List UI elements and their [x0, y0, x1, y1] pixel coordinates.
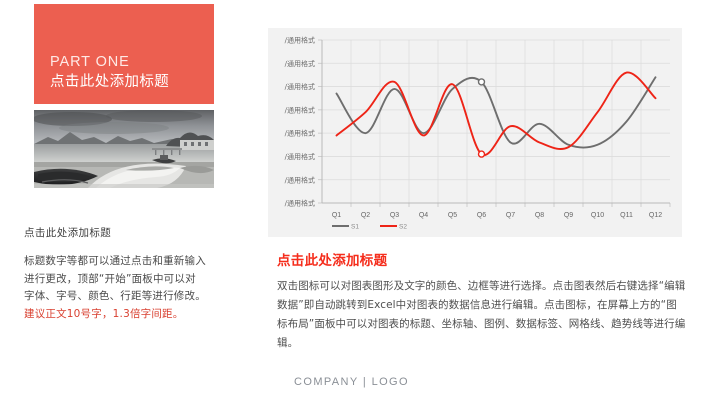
left-body-line: 标题数字等都可以通过点击和重新输入	[24, 253, 246, 271]
right-section-title: 点击此处添加标题	[277, 249, 387, 269]
x-axis-tick-label: Q7	[506, 212, 515, 219]
line-chart-card[interactable]: /通用格式/通用格式/通用格式/通用格式/通用格式/通用格式/通用格式/通用格式…	[268, 28, 682, 237]
right-body-line: 辑。	[277, 334, 702, 353]
y-axis-tick-label: /通用格式	[285, 82, 315, 91]
right-body-line: 数据”即自动跳转到Excel中对图表的数据信息进行编辑。点击图标，在屏幕上方的“…	[277, 296, 702, 315]
part-one-banner[interactable]: PART ONE 点击此处添加标题	[34, 4, 214, 104]
left-body-line-accent: 建议正文10号字，1.3倍字间距。	[24, 306, 246, 324]
left-body-line: 进行更改，顶部“开始”面板中可以对	[24, 271, 246, 289]
data-point-marker-s2[interactable]	[479, 151, 485, 157]
x-axis-tick-label: Q4	[419, 212, 428, 219]
x-axis-tick-label: Q1	[332, 212, 341, 219]
x-axis-tick-label: Q10	[591, 212, 604, 219]
part-label: PART ONE	[50, 53, 214, 71]
y-axis-tick-label: /通用格式	[285, 199, 315, 208]
company-logo-text: COMPANY | LOGO	[294, 376, 427, 388]
x-axis-tick-label: Q6	[477, 212, 486, 219]
right-body-line: 标布局”面板中可以对图表的标题、坐标轴、图例、数据标签、网格线、趋势线等进行编	[277, 315, 702, 334]
x-axis-tick-label: Q12	[649, 212, 662, 219]
x-axis-tick-label: Q2	[361, 212, 370, 219]
slide-footer: COMPANY | LOGO	[0, 372, 721, 390]
right-body-text: 双击图标可以对图表图形及文字的颜色、边框等进行选择。点击图表然后右键选择“编辑 …	[277, 277, 702, 353]
x-axis-tick-label: Q8	[535, 212, 544, 219]
left-section-heading: 点击此处添加标题	[24, 225, 111, 240]
x-axis-tick-label: Q9	[564, 212, 573, 219]
y-axis-tick-label: /通用格式	[285, 152, 315, 161]
x-axis-tick-label: Q11	[620, 212, 633, 219]
left-body-line: 字体、字号、颜色、行距等进行修改。	[24, 288, 246, 306]
y-axis-tick-label: /通用格式	[285, 175, 315, 184]
line-chart[interactable]: /通用格式/通用格式/通用格式/通用格式/通用格式/通用格式/通用格式/通用格式…	[268, 28, 682, 237]
part-title: 点击此处添加标题	[50, 72, 214, 92]
y-axis-tick-label: /通用格式	[285, 129, 315, 138]
right-body-line: 双击图标可以对图表图形及文字的颜色、边框等进行选择。点击图表然后右键选择“编辑	[277, 277, 702, 296]
y-axis-tick-label: /通用格式	[285, 36, 315, 45]
left-column: PART ONE 点击此处添加标题	[0, 0, 248, 405]
x-axis-tick-label: Q3	[390, 212, 399, 219]
y-axis-tick-label: /通用格式	[285, 59, 315, 68]
legend-label-s2: S2	[399, 223, 407, 230]
photo-placeholder-icon[interactable]	[34, 110, 214, 188]
x-axis-tick-label: Q5	[448, 212, 457, 219]
data-point-marker-s1[interactable]	[479, 79, 485, 85]
y-axis-tick-label: /通用格式	[285, 105, 315, 114]
left-body-text: 标题数字等都可以通过点击和重新输入 进行更改，顶部“开始”面板中可以对 字体、字…	[24, 253, 246, 323]
legend-label-s1: S1	[351, 223, 359, 230]
